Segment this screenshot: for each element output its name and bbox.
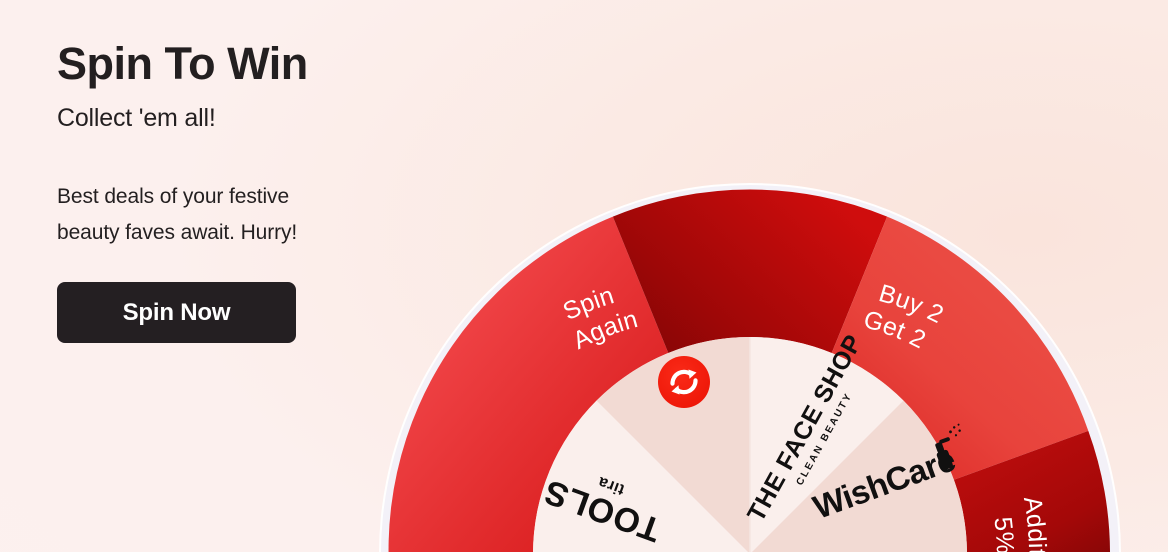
promo-subtitle: Collect 'em all! xyxy=(57,104,457,133)
promo-description: Best deals of your festive beauty faves … xyxy=(57,179,377,251)
wheel-hub-circle[interactable] xyxy=(658,356,710,408)
prize-wheel[interactable]: Additional 25% OFF Spin Again Buy 2 Get … xyxy=(378,182,1122,552)
promo-description-line-1: Best deals of your festive xyxy=(57,185,289,208)
spin-now-button[interactable]: Spin Now xyxy=(57,282,296,343)
page-title: Spin To Win xyxy=(57,40,457,87)
wheel-label-additional-5-off-line2: 5% off xyxy=(988,516,1019,552)
wheel-hub[interactable] xyxy=(658,356,710,408)
promo-description-line-2: beauty faves await. Hurry! xyxy=(57,221,297,244)
prize-wheel-graphic[interactable]: Additional 25% OFF Spin Again Buy 2 Get … xyxy=(378,182,1122,552)
spin-to-win-promo: Spin To Win Collect 'em all! Best deals … xyxy=(0,0,1168,552)
